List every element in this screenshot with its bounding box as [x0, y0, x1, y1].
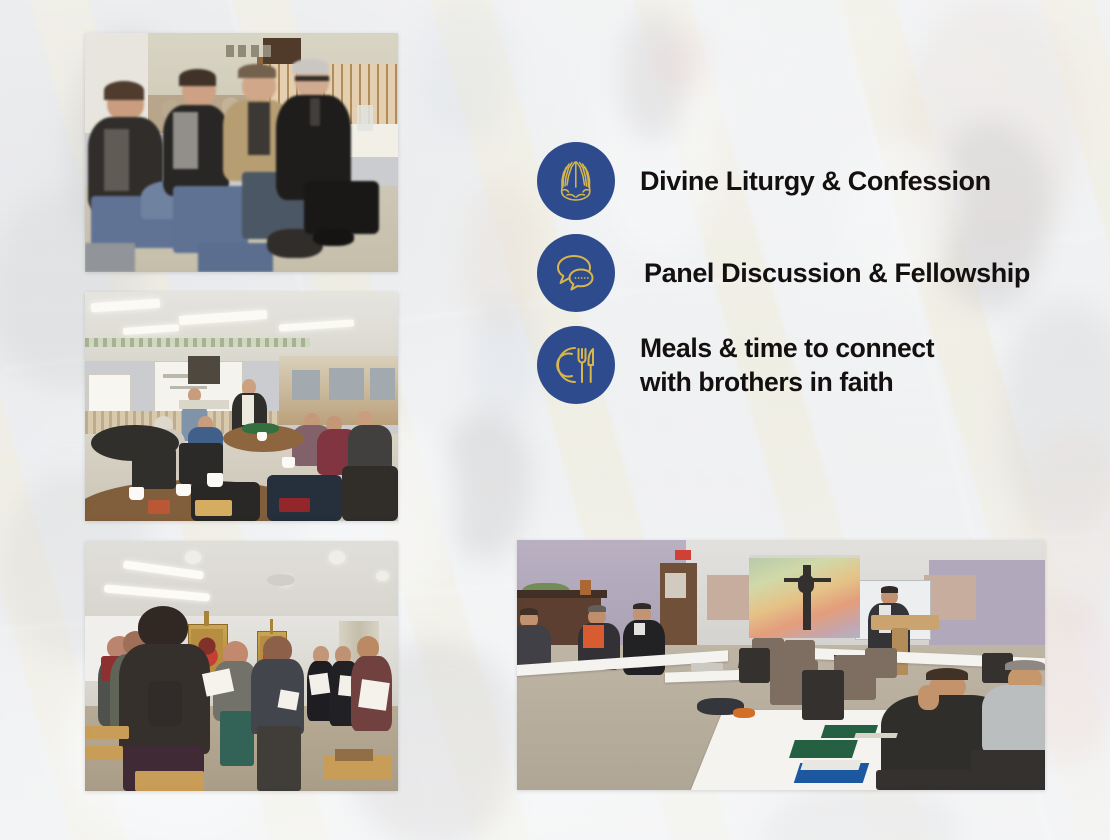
- highlight-label-meals: Meals & time to connect with brothers in…: [640, 331, 934, 400]
- photo-divine-liturgy: [85, 541, 398, 791]
- plate-fork-knife-icon: [550, 339, 602, 391]
- photo-conference-hall: [85, 292, 398, 521]
- photo-presentation-room: [517, 540, 1045, 790]
- program-highlights-list: Divine Liturgy & Confession Panel Disc: [537, 142, 1057, 418]
- highlight-row-liturgy: Divine Liturgy & Confession: [537, 142, 1057, 220]
- speech-bubbles-icon: [550, 247, 602, 299]
- highlight-row-panel: Panel Discussion & Fellowship: [537, 234, 1057, 312]
- photo-panel-discussion: [85, 33, 398, 272]
- praying-hands-icon: [550, 155, 602, 207]
- meals-badge: [537, 326, 615, 404]
- liturgy-badge: [537, 142, 615, 220]
- slide-canvas: Divine Liturgy & Confession Panel Disc: [0, 0, 1110, 840]
- highlight-row-meals: Meals & time to connect with brothers in…: [537, 326, 1057, 404]
- panel-badge: [537, 234, 615, 312]
- highlight-label-liturgy: Divine Liturgy & Confession: [640, 164, 991, 198]
- highlight-label-panel: Panel Discussion & Fellowship: [644, 256, 1030, 290]
